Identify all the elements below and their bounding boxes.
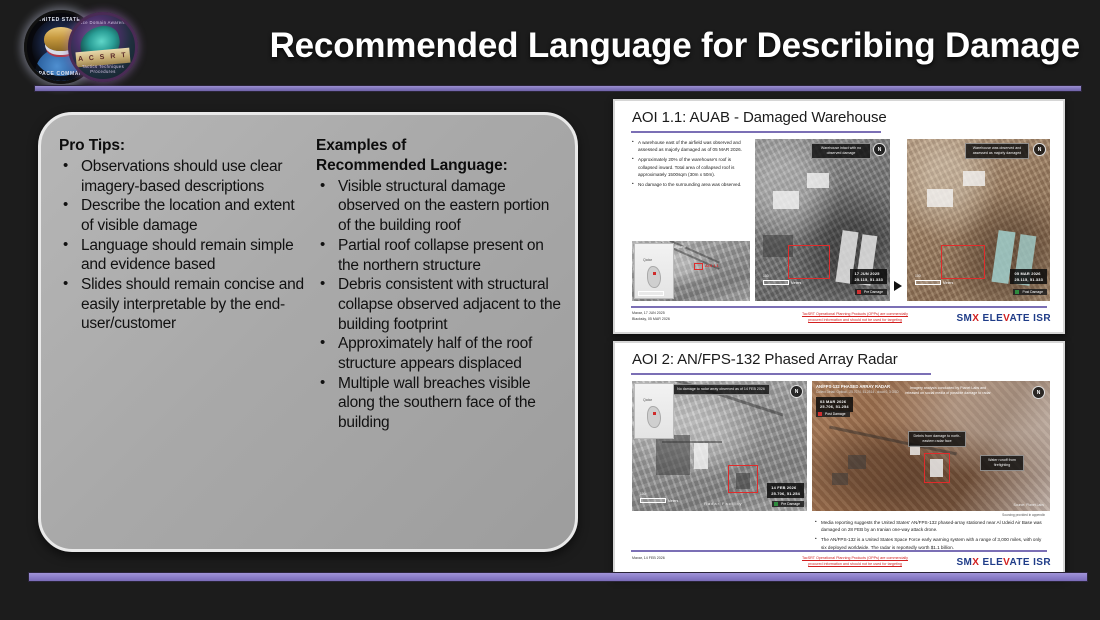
- date-value: 14 FEB 2026: [771, 485, 800, 490]
- list-item: Debris consistent with structural collap…: [316, 275, 561, 334]
- list-item: Visible structural damage observed on th…: [316, 177, 561, 236]
- qatar-outline-icon: [647, 406, 661, 428]
- building-shape: [927, 189, 953, 207]
- list-item: Slides should remain concise and easily …: [59, 275, 304, 334]
- aoi-marker-box: [694, 263, 703, 270]
- aoi1-slide-thumbnail[interactable]: AOI 1.1: AUAB - Damaged Warehouse A ware…: [613, 99, 1065, 334]
- facility-shape: [694, 443, 708, 469]
- list-item: Approximately 20% of the warehouse's roo…: [632, 156, 744, 178]
- list-item: A warehouse east of the airfield was obs…: [632, 139, 744, 154]
- aoi1-pre-damage-tag: Pre Damage: [855, 289, 887, 295]
- date-value: 05 MAR 2026: [1014, 271, 1043, 276]
- list-item: Describe the location and extent of visi…: [59, 196, 304, 235]
- location-dot-icon: [653, 272, 656, 275]
- aoi2-sourcing-note: Sourcing provided in appendix: [1002, 513, 1045, 517]
- aoi2-title-underline: [631, 373, 931, 375]
- footer-divider: [631, 550, 1047, 552]
- scale-value: 100: [640, 492, 646, 496]
- list-item: Partial roof collapse present on the nor…: [316, 236, 561, 275]
- scale-bar-icon: [763, 280, 789, 285]
- facility-shape: [656, 435, 690, 475]
- locator-inset-map: Qatar: [634, 383, 674, 439]
- building-shape: [807, 173, 829, 188]
- examples-column: Examples of Recommended Language: Visibl…: [316, 137, 561, 539]
- header-divider: [34, 85, 1082, 92]
- list-item: Multiple wall breaches visible along the…: [316, 374, 561, 433]
- coords-value: 25.706, 51.254: [820, 404, 849, 409]
- transition-arrow-icon: [894, 281, 902, 291]
- aoi2-pre-damage-image[interactable]: No damage to radar array observed as of …: [632, 381, 807, 511]
- aoi1-post-damage-tag: Post Damage: [1013, 289, 1047, 295]
- acsrt-patch-icon: Space Domain Awareness A C S R T Tactics…: [68, 12, 138, 82]
- aoi1-source-line2: Blacksky, 05 MAR 2026: [632, 317, 670, 322]
- radar-shape: [736, 473, 750, 489]
- scale-bar-icon: [638, 291, 664, 296]
- scale-unit: Meters: [943, 281, 953, 285]
- agency-seals: Space Domain Awareness A C S R T Tactics…: [12, 4, 162, 86]
- scale-value: 100: [763, 274, 769, 278]
- slide-header: Space Domain Awareness A C S R T Tactics…: [0, 0, 1100, 90]
- aoi1-disclaimer-line2[interactable]: procured information and should not be u…: [765, 318, 945, 323]
- pro-tips-card: Pro Tips: Observations should use clear …: [38, 112, 578, 552]
- damage-area-box: [941, 245, 985, 279]
- building-shape: [773, 191, 799, 209]
- qatar-outline-icon: [647, 266, 661, 288]
- list-item: Language should remain simple and eviden…: [59, 236, 304, 275]
- aoi2-analysis-callout: Imagery analysis conducted by Planet Lab…: [900, 384, 996, 398]
- coords-value: 25.115, 51.333: [1014, 277, 1043, 282]
- building-shape: [963, 171, 985, 186]
- damage-area-box: [788, 245, 830, 279]
- locator-country-label: Qatar: [643, 398, 652, 402]
- north-arrow-icon: N: [1033, 143, 1046, 156]
- radar-shape: [930, 459, 943, 477]
- aoi2-source-line1: Maxar, 14 FEB 2026: [632, 556, 665, 561]
- north-arrow-icon: N: [1032, 386, 1045, 399]
- aoi2-image-source: Source: Planet Labs: [1013, 503, 1044, 507]
- aoi2-right-header: AN/FPS-132 PHASED ARRAY RADAR: [816, 384, 890, 389]
- scale-unit: Meters: [668, 499, 678, 503]
- aoi2-post-damage-image[interactable]: AN/FPS-132 PHASED ARRAY RADAR Collect De…: [812, 381, 1050, 511]
- location-dot-icon: [653, 412, 656, 415]
- acsrt-top-text: Space Domain Awareness: [71, 20, 135, 25]
- acsrt-bottom-text: Tactics Techniques Procedures: [71, 64, 135, 74]
- aoi2-debris-callout: Debris from damage to north-eastern rada…: [908, 431, 966, 447]
- aoi2-disclaimer-line1[interactable]: TacSRT Operational Planning Products (OP…: [765, 556, 945, 561]
- locator-country-label: Qatar: [643, 258, 652, 262]
- slide-root: Space Domain Awareness A C S R T Tactics…: [0, 0, 1100, 620]
- list-item: No damage to the surrounding area was ob…: [632, 181, 744, 188]
- aoi2-post-datestamp: 03 MAR 2026 25.706, 51.254: [816, 397, 853, 412]
- aoi2-site-label: Radar Facility: [704, 501, 742, 506]
- page-title: Recommended Language for Describing Dama…: [180, 18, 1080, 74]
- aoi1-footer: Maxar, 17 JUN 2025 Blacksky, 05 MAR 2026…: [615, 306, 1063, 332]
- coords-value: 25.706, 51.254: [771, 491, 800, 496]
- north-arrow-icon: N: [790, 385, 803, 398]
- aoi2-post-damage-tag: Post Damage: [816, 411, 850, 417]
- aoi1-overview-image[interactable]: AOI 1.1 Al Udeid Air Base Qatar: [632, 241, 750, 301]
- facility-shape: [832, 473, 848, 485]
- aoi2-right-subheader: Collect Detail: Optical - 25.7074, 51.25…: [816, 390, 899, 394]
- footer-divider: [631, 306, 1047, 308]
- aoi1-post-callout: Warehouse was observed and assessed as m…: [965, 143, 1029, 159]
- north-arrow-icon: N: [873, 143, 886, 156]
- aoi1-pre-callout: Warehouse intact with no observed damage: [811, 143, 871, 159]
- facility-shape: [848, 455, 866, 469]
- aoi1-title-underline: [631, 131, 881, 133]
- aoi1-pre-datestamp: 17 JUN 2025 25.115, 51.333: [850, 269, 887, 284]
- scale-bar-icon: [915, 280, 941, 285]
- aoi2-disclaimer-line2[interactable]: procured information and should not be u…: [765, 562, 945, 567]
- examples-list: Visible structural damage observed on th…: [316, 177, 561, 433]
- aoi2-water-callout: Water runoff from firefighting: [980, 455, 1024, 471]
- aoi2-pre-datestamp: 14 FEB 2026 25.706, 51.254: [767, 483, 804, 498]
- smx-elevate-isr-logo: SMX ELEVATE ISR: [956, 313, 1051, 324]
- list-item: Approximately half of the roof structure…: [316, 334, 561, 373]
- aoi1-post-datestamp: 05 MAR 2026 25.115, 51.333: [1010, 269, 1047, 284]
- aoi1-disclaimer-line1[interactable]: TacSRT Operational Planning Products (OP…: [765, 312, 945, 317]
- list-item: Media reporting suggests the United Stat…: [815, 519, 1047, 534]
- aoi2-pre-callout: No damage to radar array observed as of …: [672, 384, 770, 395]
- coords-value: 25.115, 51.333: [854, 277, 883, 282]
- pro-tips-heading: Pro Tips:: [59, 137, 304, 156]
- examples-heading-line2: Recommended Language:: [316, 157, 561, 176]
- scale-value: 100: [915, 274, 921, 278]
- aoi1-bullet-list: A warehouse east of the airfield was obs…: [632, 139, 744, 191]
- aoi2-title: AOI 2: AN/FPS-132 Phased Array Radar: [632, 351, 1053, 368]
- pro-tips-column: Pro Tips: Observations should use clear …: [59, 137, 304, 539]
- aoi1-source-line1: Maxar, 17 JUN 2025: [632, 311, 665, 316]
- aoi2-pre-damage-tag: Pre Damage: [772, 501, 804, 507]
- pro-tips-list: Observations should use clear imagery-ba…: [59, 157, 304, 334]
- scale-bar-icon: [640, 498, 666, 503]
- footer-divider-bar: [28, 572, 1088, 582]
- scale-unit: Meters: [791, 281, 801, 285]
- aoi1-marker-label: AOI 1.1: [705, 263, 719, 268]
- list-item: Observations should use clear imagery-ba…: [59, 157, 304, 196]
- aoi1-post-damage-image[interactable]: Warehouse was observed and assessed as m…: [907, 139, 1050, 301]
- aoi2-slide-thumbnail[interactable]: AOI 2: AN/FPS-132 Phased Array Radar No …: [613, 341, 1065, 578]
- smx-elevate-isr-logo: SMX ELEVATE ISR: [956, 557, 1051, 568]
- examples-heading-line1: Examples of: [316, 137, 561, 156]
- date-value: 17 JUN 2025: [854, 271, 883, 276]
- aoi1-title: AOI 1.1: AUAB - Damaged Warehouse: [632, 109, 1053, 126]
- aoi1-pre-damage-image[interactable]: Warehouse intact with no observed damage…: [755, 139, 890, 301]
